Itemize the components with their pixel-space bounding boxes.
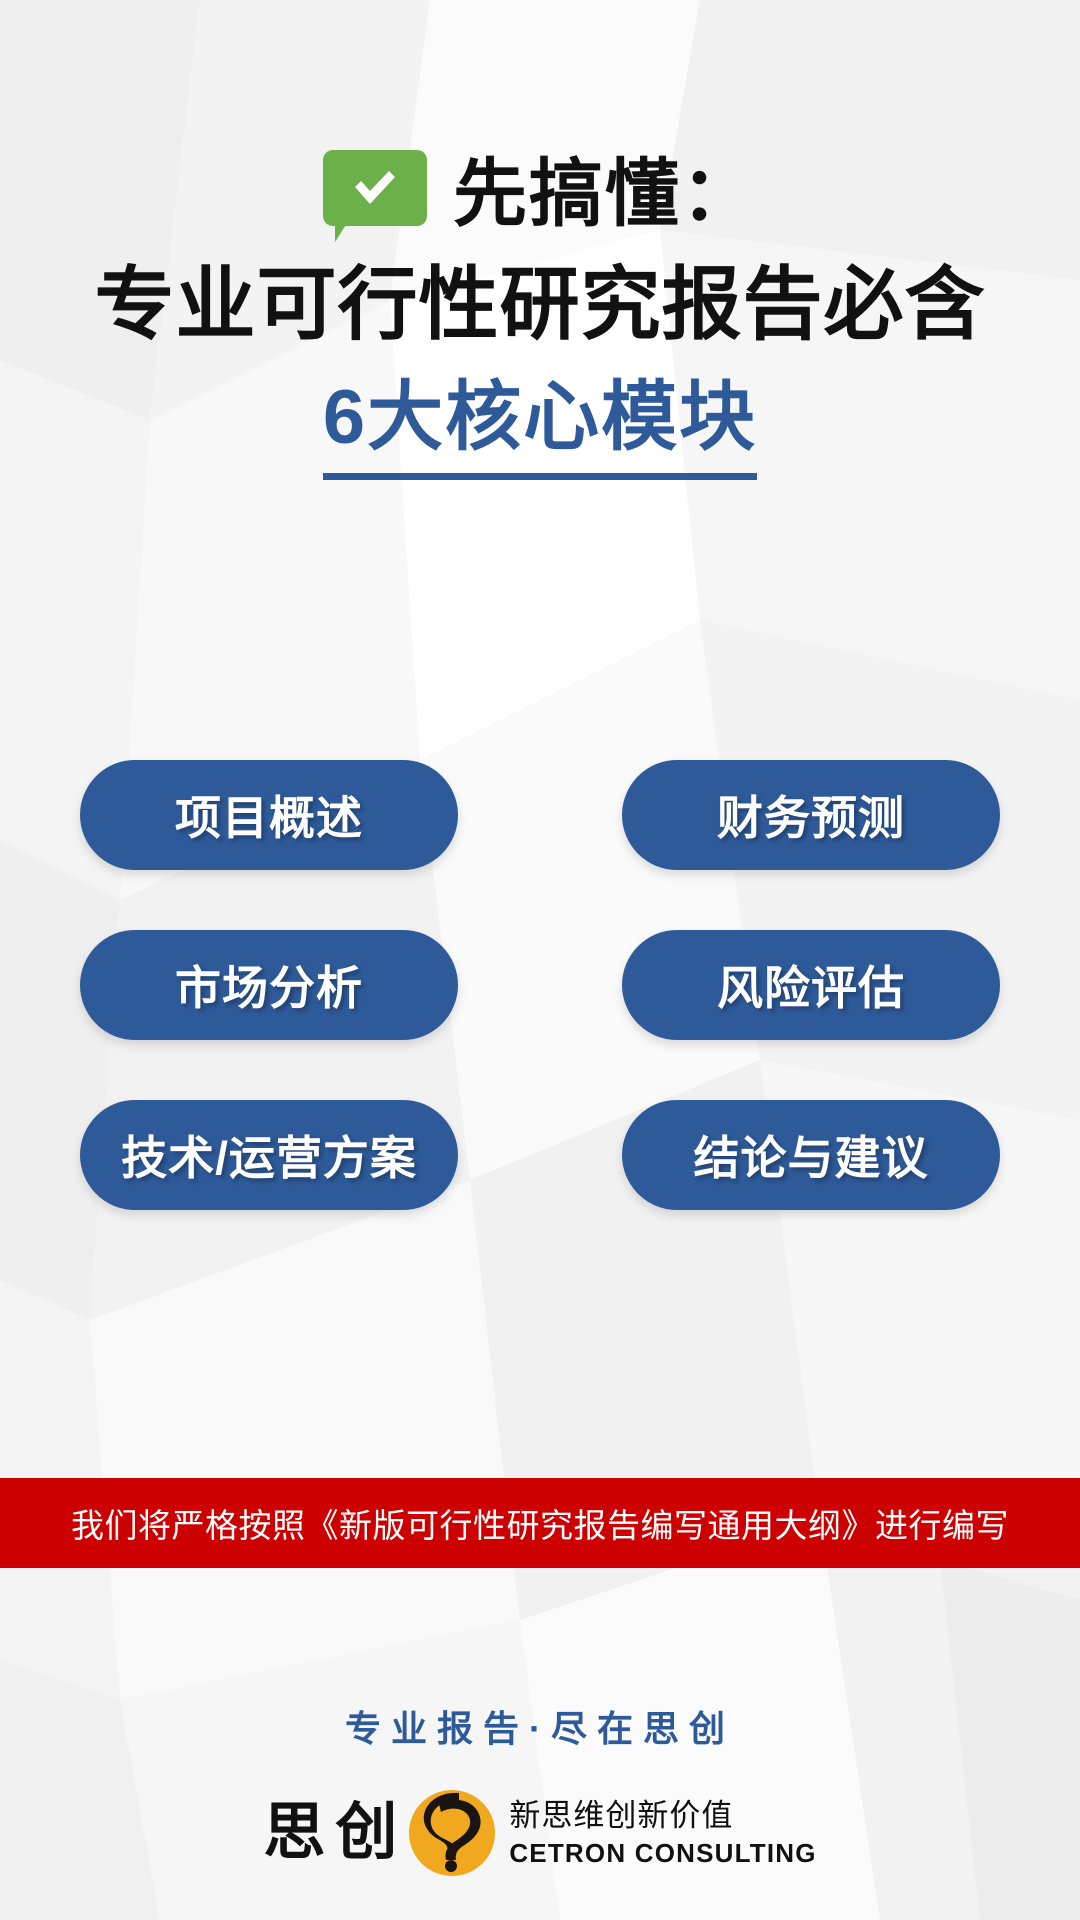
title-line-primary: 先搞懂： [0, 150, 1080, 238]
poster-canvas: 先搞懂： 专业可行性研究报告必含 6大核心模块 项目概述 财务预测 市场分析 风… [0, 0, 1080, 1920]
module-pill-technical-operations-plan[interactable]: 技术/运营方案 [80, 1100, 458, 1210]
check-mark-icon [351, 168, 399, 208]
module-pill-financial-forecast[interactable]: 财务预测 [622, 760, 1000, 870]
headline-accent-wrapper: 6大核心模块 [323, 376, 757, 481]
module-pill-market-analysis[interactable]: 市场分析 [80, 930, 458, 1040]
brand-tagline-block: 新思维创新价值 CETRON CONSULTING [509, 1800, 816, 1866]
module-pill-label: 项目概述 [175, 782, 363, 848]
orange-circle-s-question-mark-icon [409, 1790, 495, 1876]
brand-name-cn: 思创 [263, 1802, 407, 1864]
module-pill-label: 技术/运营方案 [121, 1122, 417, 1188]
brand-tagline-cn: 新思维创新价值 [509, 1800, 816, 1831]
module-pill-label: 财务预测 [717, 782, 905, 848]
footer-slogan: 专业报告·尽在思创 [0, 1700, 1080, 1752]
module-row: 项目概述 财务预测 [80, 760, 1000, 870]
header-block: 先搞懂： 专业可行性研究报告必含 6大核心模块 [0, 0, 1080, 480]
module-pill-risk-assessment[interactable]: 风险评估 [622, 930, 1000, 1040]
module-grid: 项目概述 财务预测 市场分析 风险评估 技术/运营方案 结论与建议 [0, 760, 1080, 1210]
module-pill-label: 风险评估 [717, 952, 905, 1018]
banner-text: 我们将严格按照《新版可行性研究报告编写通用大纲》进行编写 [71, 1499, 1009, 1547]
module-pill-project-overview[interactable]: 项目概述 [80, 760, 458, 870]
brand-tagline-en: CETRON CONSULTING [509, 1840, 816, 1866]
speech-bubble-check-icon [323, 150, 427, 238]
bubble-tail-shape [335, 220, 363, 242]
brand-logo-lockup: 思创 新思维创新价值 CETRON CONSULTING [0, 1790, 1080, 1876]
module-pill-label: 结论与建议 [694, 1122, 929, 1188]
module-row: 技术/运营方案 结论与建议 [80, 1100, 1000, 1210]
module-pill-label: 市场分析 [175, 952, 363, 1018]
headline-main: 专业可行性研究报告必含 [0, 260, 1080, 350]
headline-prefix: 先搞懂： [453, 157, 757, 231]
headline-accent: 6大核心模块 [323, 376, 757, 481]
red-notice-banner: 我们将严格按照《新版可行性研究报告编写通用大纲》进行编写 [0, 1478, 1080, 1568]
module-pill-conclusion-recommendations[interactable]: 结论与建议 [622, 1100, 1000, 1210]
footer-block: 专业报告·尽在思创 思创 新思维创新价值 CETRON CONSULTING [0, 1700, 1080, 1876]
module-row: 市场分析 风险评估 [80, 930, 1000, 1040]
